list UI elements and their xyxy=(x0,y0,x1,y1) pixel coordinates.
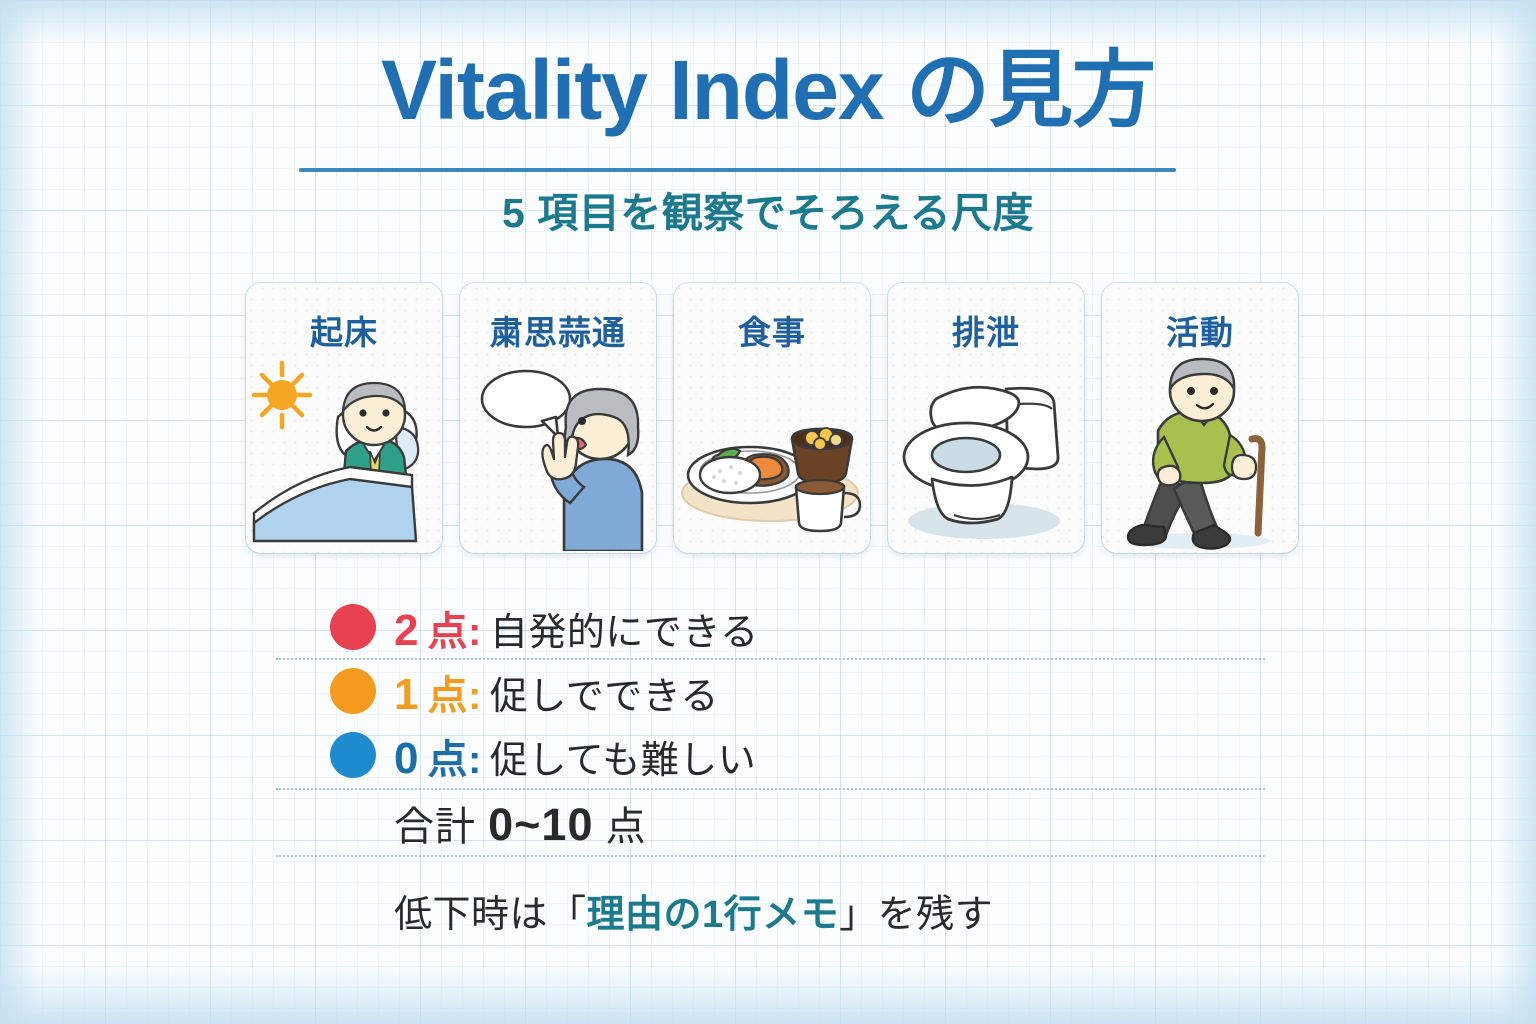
legend-row-1: 1 点: 促しでできる xyxy=(0,660,1536,724)
score-desc-1: 促しでできる xyxy=(490,665,719,720)
person-speaking-bubble-icon xyxy=(460,355,656,551)
score-dot-orange xyxy=(330,668,376,714)
page-subtitle: 5 項目を観察でそろえる尺度 xyxy=(0,179,1536,239)
total-prefix: 合計 xyxy=(394,805,488,849)
item-card-toilet[interactable]: 排泄 xyxy=(888,283,1084,553)
score-label-0: 0 点: xyxy=(394,727,482,785)
title-underline xyxy=(299,168,1176,172)
legend-row-0: 0 点: 促しても難しい xyxy=(0,724,1536,788)
item-card-meal[interactable]: 食事 xyxy=(674,283,870,553)
footnote-before: 低下時は「 xyxy=(394,894,587,936)
card-label: 起床 xyxy=(246,306,442,354)
header: Vitality Index の見方 5 項目を観察でそろえる尺度 xyxy=(0,46,1536,135)
card-label: 食事 xyxy=(674,306,870,354)
score-desc-0: 促しても難しい xyxy=(490,729,756,784)
person-walking-cane-icon xyxy=(1102,355,1298,551)
person-waking-in-bed-icon xyxy=(246,355,442,551)
card-label: 粛思蒜通 xyxy=(460,306,656,354)
card-label: 排泄 xyxy=(888,306,1084,354)
footnote-highlight: 理由の1行メモ xyxy=(587,894,840,936)
total-score-text: 合計 0~10 点 xyxy=(394,794,647,852)
footnote-after: 」を残す xyxy=(839,894,993,936)
legend-separator xyxy=(276,788,1265,790)
legend-row-2: 2 点: 自発的にできる xyxy=(0,596,1536,660)
item-card-activity[interactable]: 活動 xyxy=(1102,283,1298,553)
item-card-row: 起床 xyxy=(246,283,1298,555)
item-card-communication[interactable]: 粛思蒜通 xyxy=(460,283,656,553)
score-dot-red xyxy=(330,604,376,650)
total-range: 0~10 xyxy=(488,799,593,850)
score-label-1: 1 点: xyxy=(394,663,482,721)
score-dot-blue xyxy=(330,732,376,778)
card-label: 活動 xyxy=(1102,306,1298,354)
footnote-text: 低下時は「理由の1行メモ」を残す xyxy=(394,883,993,938)
footer-separator xyxy=(276,855,1265,857)
score-label-2: 2 点: xyxy=(394,599,482,657)
infographic-slide: Vitality Index の見方 5 項目を観察でそろえる尺度 起床 xyxy=(0,0,1536,1024)
score-legend: 2 点: 自発的にできる 1 点: 促しでできる 0 点: 促しても難しい xyxy=(0,596,1536,788)
toilet-icon xyxy=(888,355,1084,551)
item-card-wakeup[interactable]: 起床 xyxy=(246,283,442,553)
total-suffix: 点 xyxy=(594,805,647,849)
page-title: Vitality Index の見方 xyxy=(0,46,1536,135)
meal-tray-icon xyxy=(674,355,870,551)
score-desc-2: 自発的にできる xyxy=(490,601,759,656)
